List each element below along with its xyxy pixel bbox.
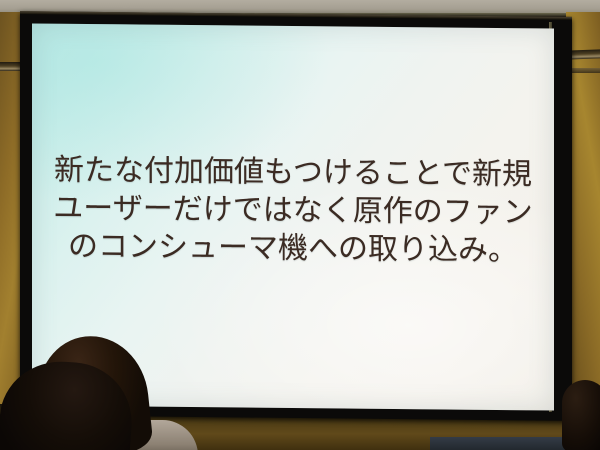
- slide-text-block: 新たな付加価値もつけることで新規 ユーザーだけではなく原作のファン のコンシュー…: [32, 151, 554, 270]
- audience-head-right: [562, 380, 600, 450]
- presentation-photo: 新たな付加価値もつけることで新規 ユーザーだけではなく原作のファン のコンシュー…: [0, 0, 600, 450]
- slide-line-3: のコンシューマ機への取り込み。: [32, 227, 554, 270]
- slide-line-2: ユーザーだけではなく原作のファン: [32, 189, 554, 232]
- slide-line-1: 新たな付加価値もつけることで新規: [32, 151, 554, 194]
